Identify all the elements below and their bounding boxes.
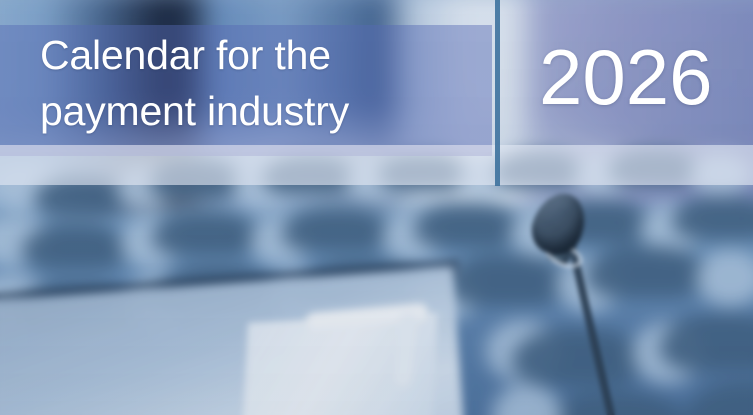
year-label: 2026 [539, 38, 713, 116]
vertical-divider [495, 0, 500, 186]
microphone-head-shading [524, 186, 594, 262]
light-band-accent [0, 145, 492, 156]
calendar-banner: Calendar for the payment industry 2026 [0, 0, 753, 415]
page-title: Calendar for the payment industry [40, 27, 470, 139]
